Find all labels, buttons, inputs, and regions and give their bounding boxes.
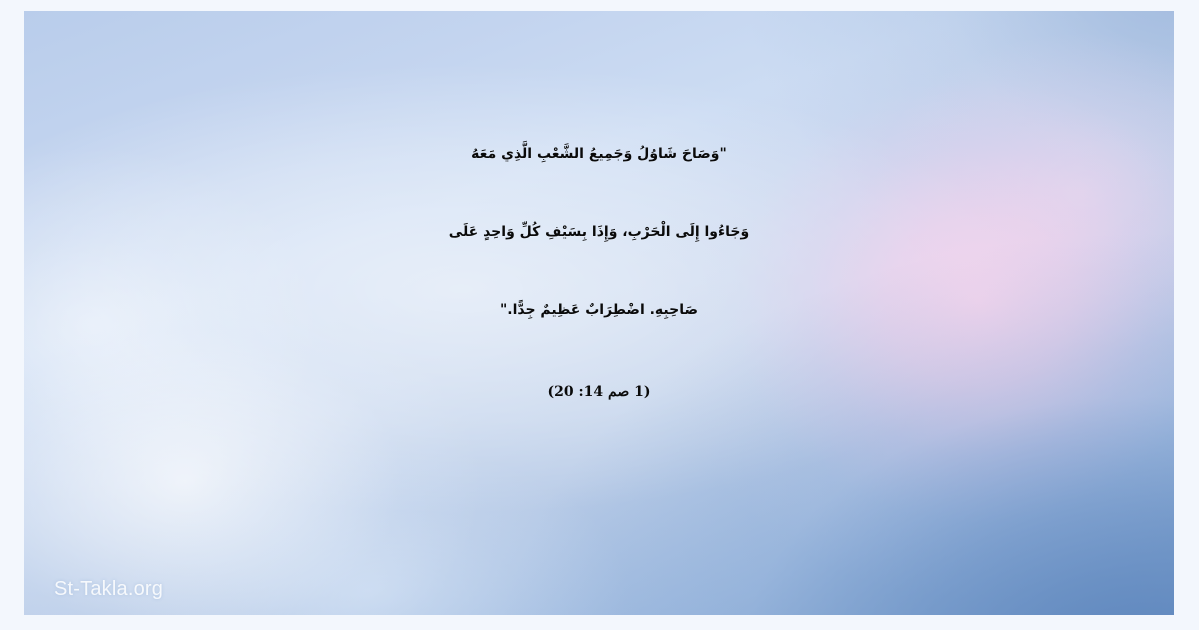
verse-line-3: صَاحِبِهِ. اضْطِرَابٌ عَظِيمٌ جِدًّا." <box>24 271 1174 349</box>
watermark-st-takla: St-Takla.org <box>54 578 163 601</box>
verse-reference: (1 صم 14: 20) <box>24 349 1174 435</box>
verse-text-block: "وَصَاحَ شَاوُلُ وَجَمِيعُ الشَّعْبِ الَ… <box>24 115 1174 435</box>
verse-line-1: "وَصَاحَ شَاوُلُ وَجَمِيعُ الشَّعْبِ الَ… <box>24 115 1174 193</box>
image-canvas: "وَصَاحَ شَاوُلُ وَجَمِيعُ الشَّعْبِ الَ… <box>0 0 1199 630</box>
verse-line-2: وَجَاءُوا إِلَى الْحَرْبِ، وَإِذَا بِسَي… <box>24 193 1174 271</box>
verse-image: "وَصَاحَ شَاوُلُ وَجَمِيعُ الشَّعْبِ الَ… <box>24 11 1174 615</box>
